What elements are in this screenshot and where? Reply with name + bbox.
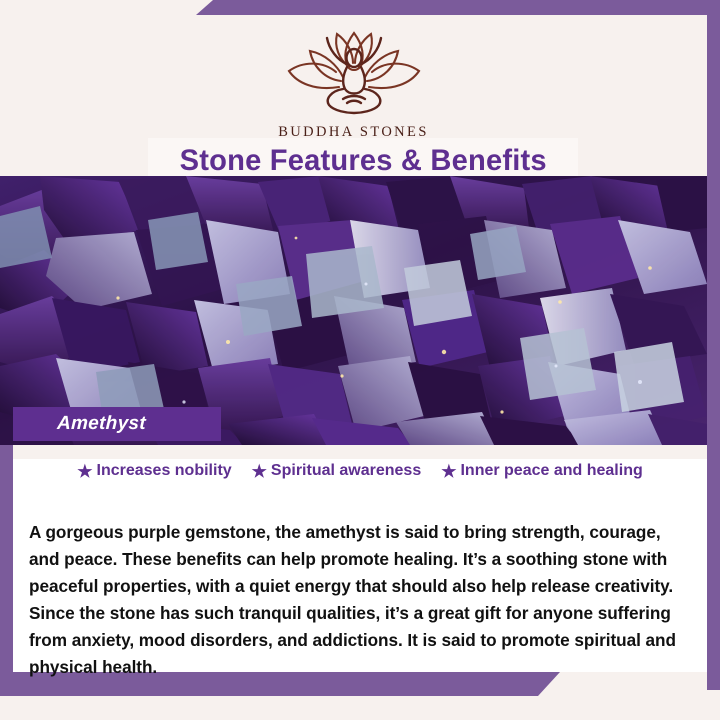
feature-label-3: Inner peace and healing [460,462,642,480]
frame-top-bar [196,0,720,15]
stone-name-banner: Amethyst [13,407,221,441]
star-icon: ★ [252,463,267,480]
feature-list: ★ Increases nobility ★ Spiritual awarene… [13,462,707,480]
content-card: ★ Increases nobility ★ Spiritual awarene… [13,445,707,672]
page-title: Stone Features & Benefits [179,144,546,178]
feature-label-1: Increases nobility [97,462,232,480]
feature-item-2: ★ Spiritual awareness [252,462,422,480]
frame-right-bar [707,0,720,690]
feature-item-3: ★ Inner peace and healing [441,462,643,480]
feature-item-1: ★ Increases nobility [77,462,231,480]
star-icon: ★ [441,463,456,480]
star-icon: ★ [77,463,92,480]
brand-logo: BUDDHA STONES [0,25,707,141]
lotus-meditation-icon [279,25,429,117]
infographic-page: BUDDHA STONES Stone Features & Benefits [0,0,720,720]
hero-image [0,176,707,445]
stone-name-label: Amethyst [13,413,147,435]
header-section: BUDDHA STONES Stone Features & Benefits [0,15,707,176]
stone-description: A gorgeous purple gemstone, the amethyst… [29,519,693,681]
card-top-tint [13,445,707,459]
feature-label-2: Spiritual awareness [271,462,421,480]
